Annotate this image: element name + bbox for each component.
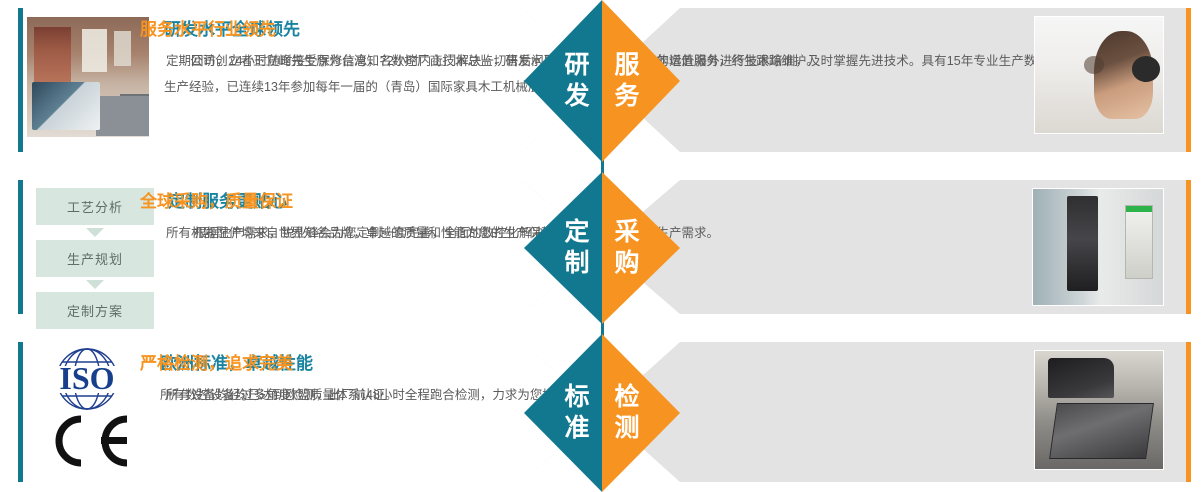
right-text: 严格检测，追求完美 所有设备均经过多角度检测，出厂前48小时全程跑合检测，力求为… bbox=[0, 334, 1034, 408]
page-title: 服务水平行业领先 bbox=[140, 18, 1024, 42]
right-text: 服务水平行业领先 定期回访，24小时随时接受保修信息，72小时内上门解决一切售后… bbox=[0, 0, 1034, 74]
right-card-content: 全球采购，质量保证 所有机器配件均来自世界知名品牌，卓越的质量和性能为您的生产保… bbox=[0, 172, 1204, 324]
advantages-infographic: 研发水平全球领先 公司创立者王立峰先生原为台湾知名数控厂商技术总监，研发水平精湛… bbox=[0, 0, 1204, 492]
machine-parts-photo bbox=[1032, 188, 1164, 306]
inspection-photo bbox=[1034, 350, 1164, 470]
right-card-content: 服务水平行业领先 定期回访，24小时随时接受保修信息，72小时内上门解决一切售后… bbox=[0, 0, 1204, 162]
right-card-content: 严格检测，追求完美 所有设备均经过多角度检测，出厂前48小时全程跑合检测，力求为… bbox=[0, 334, 1204, 492]
card-body-text: 定期回访，24小时随时接受保修信息，72小时内上门解决一切售后问题，提供与机器相… bbox=[140, 48, 1024, 74]
card-body-text: 所有机器配件均来自世界知名品牌，卓越的质量和性能为您的生产保驾护航。 bbox=[140, 220, 1022, 246]
call-center-photo bbox=[1034, 16, 1164, 134]
diamond-connector-line bbox=[601, 306, 604, 340]
right-media bbox=[1032, 188, 1164, 306]
page-title: 全球采购，质量保证 bbox=[140, 190, 1022, 214]
card-body-text: 所有设备均经过多角度检测，出厂前48小时全程跑合检测，力求为您提供完美设备。 bbox=[140, 382, 1024, 408]
feature-row-rd-service: 研发水平全球领先 公司创立者王立峰先生原为台湾知名数控厂商技术总监，研发水平精湛… bbox=[0, 0, 1204, 162]
page-title: 严格检测，追求完美 bbox=[140, 352, 1024, 376]
right-media bbox=[1034, 16, 1164, 134]
diamond-connector-line bbox=[601, 142, 604, 178]
feature-row-custom-purchase: 工艺分析 生产规划 定制方案 定制服务更贴心 根据生产需求，锐业锋会为您定制一套… bbox=[0, 172, 1204, 324]
feature-row-standard-inspection: ISO 欧洲标准，卓越性能 所有数控设备均已达到欧盟质量体系认证。 bbox=[0, 334, 1204, 492]
right-text: 全球采购，质量保证 所有机器配件均来自世界知名品牌，卓越的质量和性能为您的生产保… bbox=[0, 172, 1032, 246]
right-media bbox=[1034, 350, 1164, 470]
